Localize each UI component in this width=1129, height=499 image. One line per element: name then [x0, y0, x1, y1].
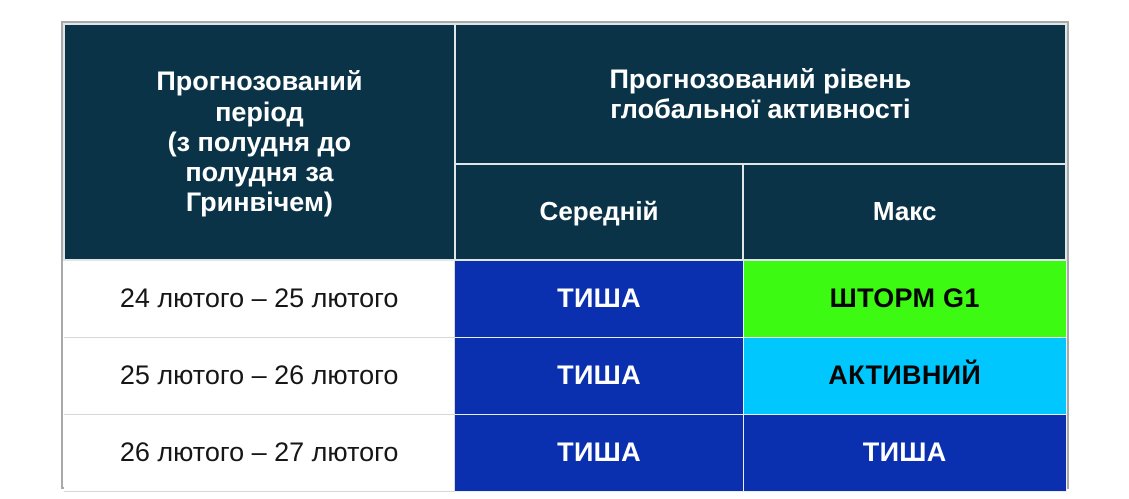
cell-period: 25 лютого – 26 лютого — [64, 337, 455, 414]
cell-mean-level: ТИША — [455, 337, 744, 414]
header-row-main: Прогнозований період (з полудня до полуд… — [64, 24, 1066, 164]
cell-max-level: АКТИВНИЙ — [743, 337, 1066, 414]
header-period: Прогнозований період (з полудня до полуд… — [64, 24, 455, 260]
header-period-line-4: полудня за — [65, 157, 454, 187]
header-activity: Прогнозований рівень глобальної активнос… — [455, 24, 1066, 164]
header-activity-line-1: Прогнозований рівень — [456, 64, 1065, 94]
geomagnetic-forecast-table: Прогнозований період (з полудня до полуд… — [63, 23, 1067, 492]
table-header: Прогнозований період (з полудня до полуд… — [64, 24, 1066, 260]
header-max: Макс — [743, 164, 1066, 260]
header-mean: Середній — [455, 164, 744, 260]
header-period-line-5: Гринвічем) — [65, 187, 454, 217]
header-period-line-1: Прогнозований — [65, 66, 454, 96]
cell-max-level: ШТОРМ G1 — [743, 260, 1066, 337]
table-row: 25 лютого – 26 лютого ТИША АКТИВНИЙ — [64, 337, 1066, 414]
cell-period: 26 лютого – 27 лютого — [64, 414, 455, 491]
cell-mean-level: ТИША — [455, 260, 744, 337]
cell-mean-level: ТИША — [455, 414, 744, 491]
table-row: 26 лютого – 27 лютого ТИША ТИША — [64, 414, 1066, 491]
header-activity-line-2: глобальної активності — [456, 94, 1065, 124]
table-body: 24 лютого – 25 лютого ТИША ШТОРМ G1 25 л… — [64, 260, 1066, 491]
table-row: 24 лютого – 25 лютого ТИША ШТОРМ G1 — [64, 260, 1066, 337]
cell-max-level: ТИША — [743, 414, 1066, 491]
header-period-line-3: (з полудня до — [65, 127, 454, 157]
forecast-table-container: Прогнозований період (з полудня до полуд… — [61, 21, 1069, 489]
cell-period: 24 лютого – 25 лютого — [64, 260, 455, 337]
header-period-line-2: період — [65, 97, 454, 127]
